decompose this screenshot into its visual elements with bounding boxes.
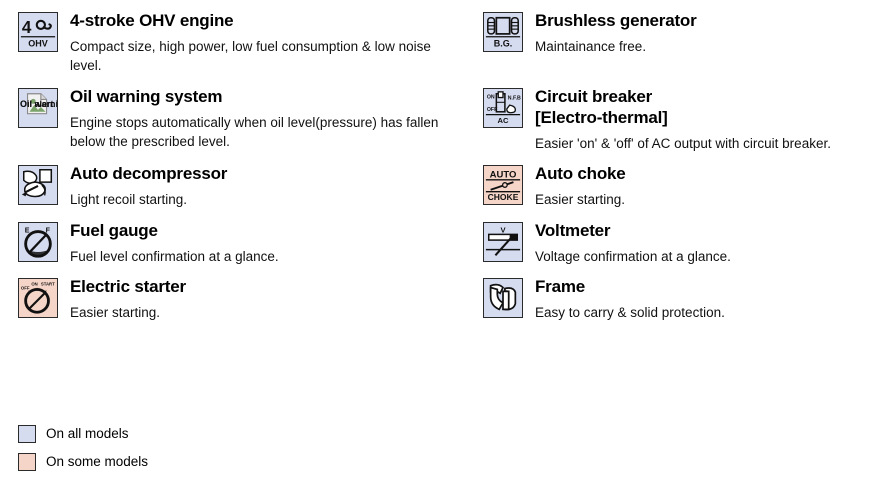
svg-text:N.F.B: N.F.B: [508, 95, 521, 101]
feature-title: Oil warning system: [70, 86, 453, 107]
feature-item-oil-warning-system: Oil warning system Oil alert Oil warning…: [0, 76, 465, 154]
svg-text:B.G.: B.G.: [494, 38, 513, 48]
feature-text: Brushless generator Maintainance free.: [535, 10, 878, 56]
brushless-generator-icon: B.G.: [483, 12, 523, 52]
feature-item-electric-starter: OFF ON START Electric starter Easier sta…: [0, 266, 465, 322]
feature-title: 4-stroke OHV engine: [70, 10, 453, 31]
svg-text:START: START: [41, 282, 55, 287]
legend-label-all-models: On all models: [46, 427, 129, 441]
legend-swatch-some-models: [18, 453, 36, 471]
feature-description: Easy to carry & solid protection.: [535, 303, 878, 322]
ohv-engine-icon: 4 OHV: [18, 12, 58, 52]
feature-title: Brushless generator: [535, 10, 878, 31]
feature-description: Voltage confirmation at a glance.: [535, 247, 878, 266]
frame-icon: [483, 278, 523, 318]
feature-title-line-2: [Electro-thermal]: [535, 108, 668, 127]
feature-title: Circuit breaker [Electro-thermal]: [535, 86, 878, 129]
circuit-breaker-icon: ON OFF N.F.B AC: [483, 88, 523, 128]
feature-text: Voltmeter Voltage confirmation at a glan…: [535, 220, 878, 266]
svg-text:ON: ON: [31, 282, 37, 287]
feature-item-fuel-gauge: E F Fuel gauge Fuel level confirmation a…: [0, 210, 465, 266]
electric-starter-icon: OFF ON START: [18, 278, 58, 318]
svg-text:4: 4: [22, 18, 32, 37]
svg-text:CHOKE: CHOKE: [488, 192, 519, 202]
feature-description: Maintainance free.: [535, 37, 878, 56]
auto-decompressor-icon: [18, 165, 58, 205]
feature-title-line-1: Circuit breaker: [535, 87, 652, 106]
feature-text: Oil warning system Engine stops automati…: [70, 86, 453, 152]
legend-item-all-models: On all models: [18, 420, 148, 448]
broken-image-alt-secondary: Oil alert: [20, 100, 54, 109]
feature-description: Easier 'on' & 'off' of AC output with ci…: [535, 134, 878, 153]
feature-description: Engine stops automatically when oil leve…: [70, 113, 453, 151]
feature-item-auto-choke: AUTO CHOKE Auto choke Easier starting.: [465, 153, 890, 209]
feature-list: 4 OHV 4-stroke OHV engine Compact size, …: [0, 0, 890, 322]
feature-item-auto-decompressor: Auto decompressor Light recoil starting.: [0, 153, 465, 209]
feature-item-ohv-engine: 4 OHV 4-stroke OHV engine Compact size, …: [0, 0, 465, 76]
feature-description: Easier starting.: [535, 190, 878, 209]
svg-text:ON: ON: [487, 94, 495, 100]
voltmeter-icon: V: [483, 222, 523, 262]
feature-title: Voltmeter: [535, 220, 878, 241]
feature-description: Compact size, high power, low fuel consu…: [70, 37, 453, 75]
fuel-gauge-icon: E F: [18, 222, 58, 262]
feature-item-voltmeter: V Voltmeter Voltage confirmation at a gl…: [465, 210, 890, 266]
svg-text:OFF: OFF: [21, 285, 30, 290]
feature-text: Auto choke Easier starting.: [535, 163, 878, 209]
feature-text: Frame Easy to carry & solid protection.: [535, 276, 878, 322]
feature-title: Frame: [535, 276, 878, 297]
legend: On all models On some models: [18, 420, 148, 476]
feature-title: Auto decompressor: [70, 163, 453, 184]
svg-text:AUTO: AUTO: [490, 170, 517, 181]
feature-description: Light recoil starting.: [70, 190, 453, 209]
svg-text:E: E: [25, 226, 30, 234]
feature-item-frame: Frame Easy to carry & solid protection.: [465, 266, 890, 322]
feature-text: Fuel gauge Fuel level confirmation at a …: [70, 220, 453, 266]
feature-item-brushless-generator: B.G. Brushless generator Maintainance fr…: [465, 0, 890, 76]
svg-text:OHV: OHV: [28, 38, 48, 48]
feature-title: Auto choke: [535, 163, 878, 184]
feature-text: Circuit breaker [Electro-thermal] Easier…: [535, 86, 878, 154]
broken-image-icon: Oil warning system Oil alert: [18, 88, 58, 128]
legend-label-some-models: On some models: [46, 455, 148, 469]
svg-text:AC: AC: [498, 116, 509, 125]
legend-swatch-all-models: [18, 425, 36, 443]
feature-text: Electric starter Easier starting.: [70, 276, 453, 322]
auto-choke-icon: AUTO CHOKE: [483, 165, 523, 205]
feature-description: Easier starting.: [70, 303, 453, 322]
feature-text: Auto decompressor Light recoil starting.: [70, 163, 453, 209]
feature-item-circuit-breaker: ON OFF N.F.B AC Circuit breaker [Electro…: [465, 76, 890, 154]
legend-item-some-models: On some models: [18, 448, 148, 476]
feature-description: Fuel level confirmation at a glance.: [70, 247, 453, 266]
feature-text: 4-stroke OHV engine Compact size, high p…: [70, 10, 453, 76]
feature-title: Electric starter: [70, 276, 453, 297]
feature-title: Fuel gauge: [70, 220, 453, 241]
